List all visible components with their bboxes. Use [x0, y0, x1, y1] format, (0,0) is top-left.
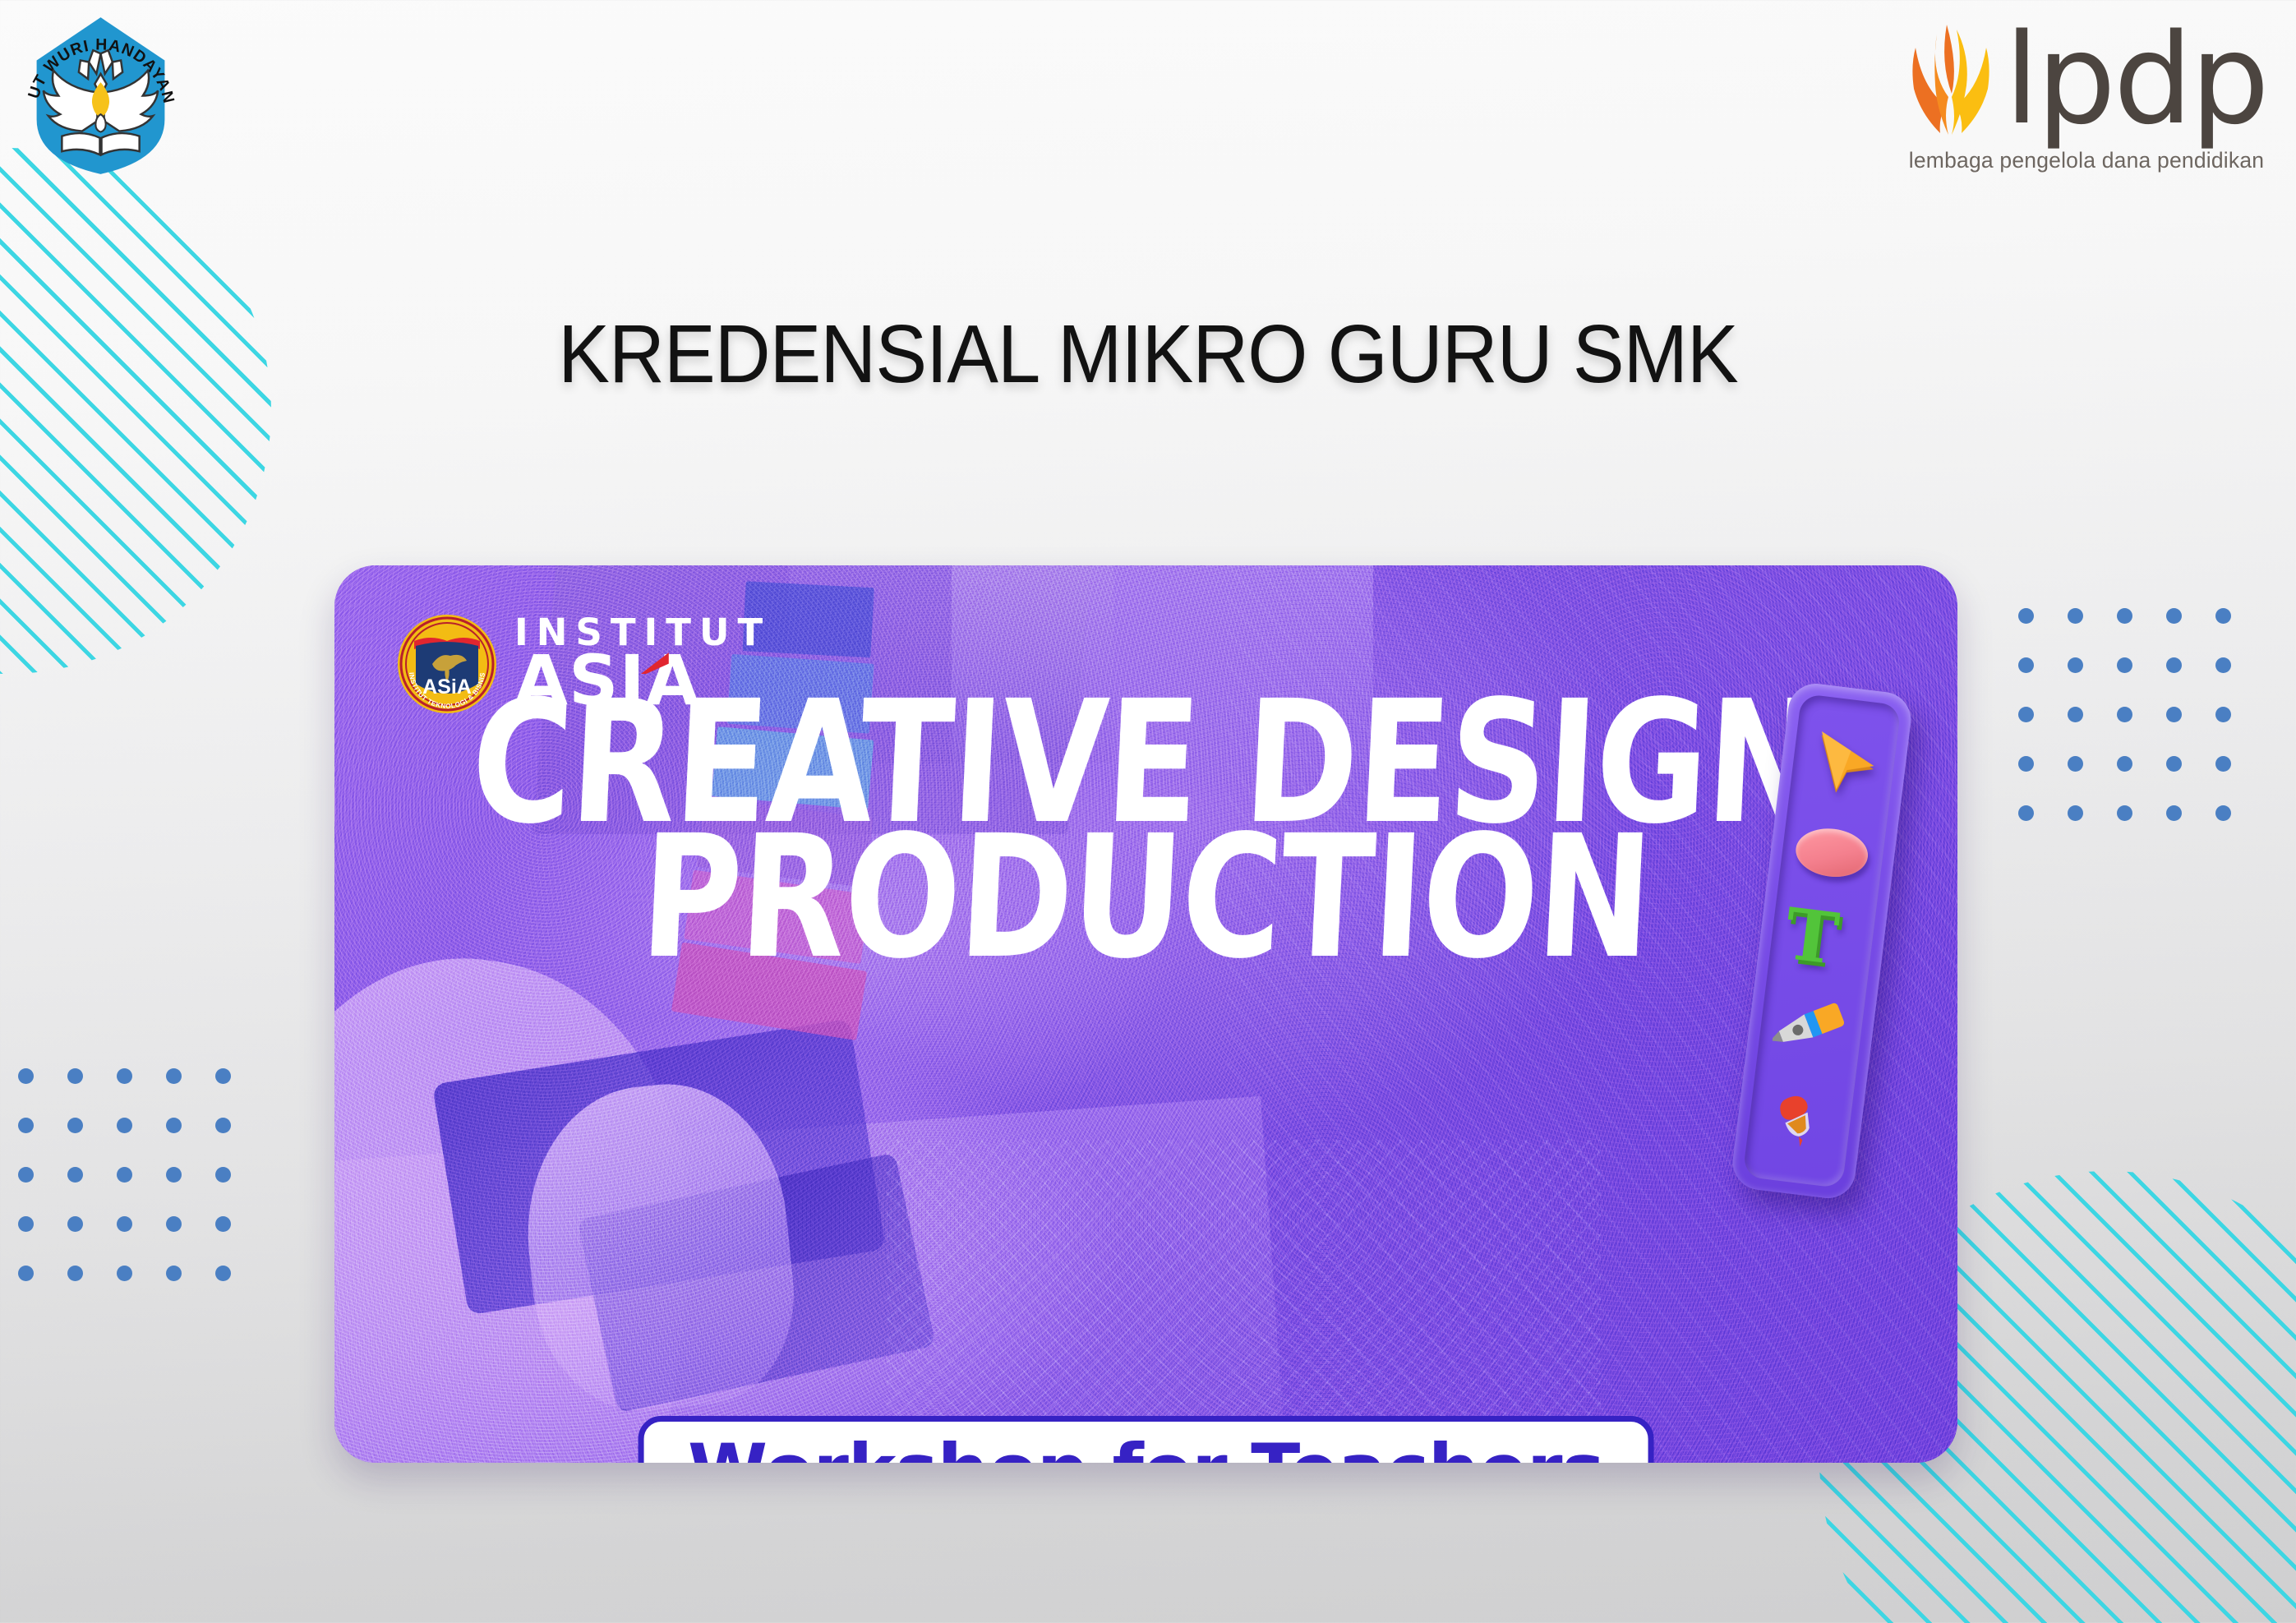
subtitle-pill: Workshop for Teachers: [638, 1416, 1654, 1463]
cursor-tool-icon[interactable]: [1802, 725, 1884, 804]
lpdp-flame-icon: [1906, 18, 1996, 141]
lpdp-logo: lpdp lembaga pengelola dana pendidikan: [1902, 18, 2271, 182]
dot-grid-right: [2018, 608, 2265, 855]
lpdp-tagline: lembaga pengelola dana pendidikan: [1909, 148, 2264, 173]
text-tool-icon[interactable]: T: [1781, 901, 1863, 980]
dot-grid-left: [18, 1068, 265, 1315]
lpdp-wordmark: lpdp: [2004, 29, 2267, 131]
page-title: KREDENSIAL MIKRO GURU SMK: [69, 307, 2227, 402]
eyedropper-tool-icon[interactable]: [1759, 1077, 1842, 1156]
ellipse-tool-icon[interactable]: [1791, 814, 1874, 892]
tut-wuri-handayani-emblem-icon: TUT WURI HANDAYANI: [16, 12, 185, 180]
pen-tool-icon[interactable]: [1770, 989, 1852, 1068]
tut-wuri-handayani-logo: TUT WURI HANDAYANI: [16, 12, 185, 180]
headline-line-2: PRODUCTION: [412, 820, 1879, 976]
poster-card[interactable]: ASiA INSTITUT TEKNOLOGI & BISNIS INSTITU…: [334, 565, 1957, 1463]
subtitle-pill-text: Workshop for Teachers: [688, 1435, 1604, 1463]
diagonal-stripes-left: [0, 148, 271, 674]
text-tool-glyph: T: [1782, 901, 1863, 975]
poster-headline: CREATIVE DESIGN PRODUCTION: [334, 685, 1957, 975]
